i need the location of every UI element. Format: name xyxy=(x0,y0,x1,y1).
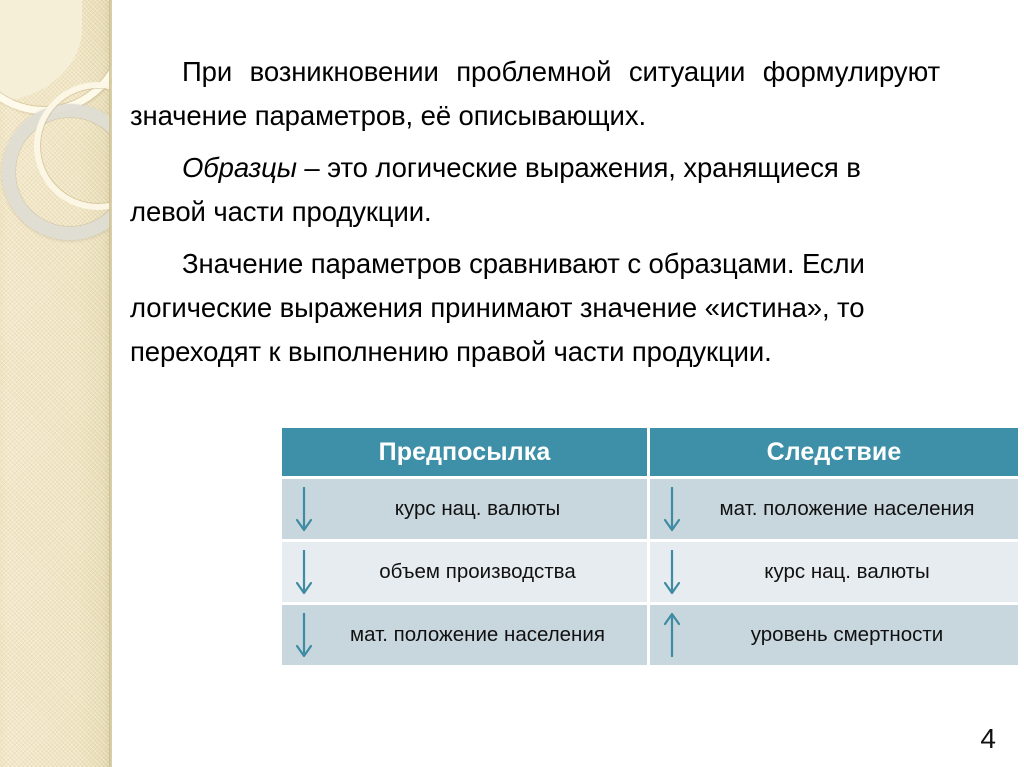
paragraph-1-text: При возникновении проблемной ситуации фо… xyxy=(130,56,940,131)
cell-text: уровень смертности xyxy=(686,624,1018,647)
paragraph-2: Образцы – это логические выражения, хран… xyxy=(130,146,940,234)
cell-consequence-2: курс нац. валюты xyxy=(650,542,1018,602)
cell-premise-2: объем производства xyxy=(282,542,647,602)
arrow-down-icon xyxy=(658,483,686,535)
cell-premise-1: курс нац. валюты xyxy=(282,479,647,539)
table-header-row: Предпосылка Следствие xyxy=(282,428,1018,476)
arrow-down-icon xyxy=(290,609,318,661)
table-row: мат. положение населения уровень смертно… xyxy=(282,605,1018,665)
cell-text: объем производства xyxy=(318,561,647,584)
premise-consequence-table: Предпосылка Следствие курс нац. валюты xyxy=(279,425,1021,668)
arrow-down-icon xyxy=(290,546,318,598)
cell-consequence-1: мат. положение населения xyxy=(650,479,1018,539)
cell-premise-3: мат. положение населения xyxy=(282,605,647,665)
column-header-consequence: Следствие xyxy=(650,428,1018,476)
paragraph-3: Значение параметров сравнивают с образца… xyxy=(130,242,940,374)
cell-text: мат. положение населения xyxy=(686,498,1018,521)
slide-content: При возникновении проблемной ситуации фо… xyxy=(112,0,1024,767)
cell-text: курс нац. валюты xyxy=(318,498,647,521)
term-obraztsy: Образцы xyxy=(182,152,297,183)
table-row: курс нац. валюты мат. положение населени… xyxy=(282,479,1018,539)
paragraph-3-text: Значение параметров сравнивают с образца… xyxy=(130,248,865,367)
cell-text: мат. положение населения xyxy=(318,624,647,647)
decorative-sidebar xyxy=(0,0,112,767)
paragraph-1: При возникновении проблемной ситуации фо… xyxy=(130,50,940,138)
cell-consequence-3: уровень смертности xyxy=(650,605,1018,665)
arrow-down-icon xyxy=(290,483,318,535)
slide-number: 4 xyxy=(980,723,996,755)
table-row: объем производства курс нац. валюты xyxy=(282,542,1018,602)
arrow-down-icon xyxy=(658,546,686,598)
column-header-premise: Предпосылка xyxy=(282,428,647,476)
arrow-up-icon xyxy=(658,609,686,661)
cell-text: курс нац. валюты xyxy=(686,561,1018,584)
